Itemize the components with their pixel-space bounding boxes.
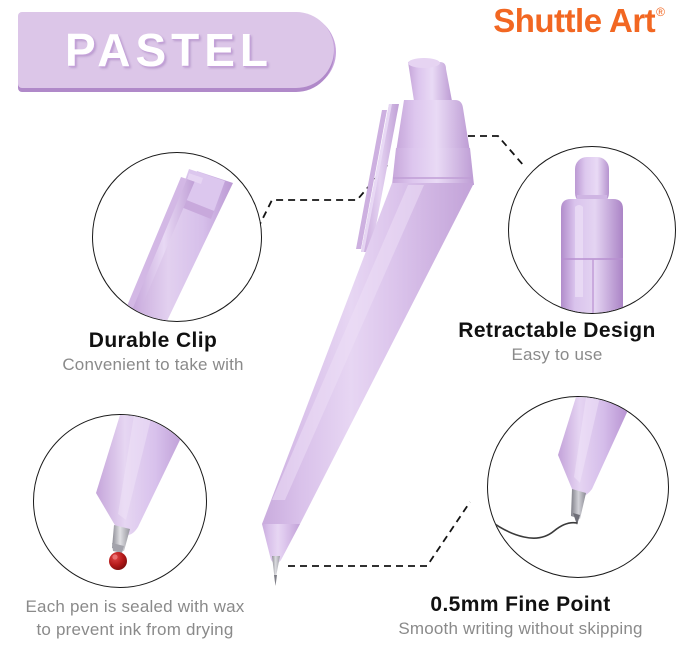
pen-clip-closeup-icon xyxy=(93,153,261,321)
label-wax-seal-line2: to prevent ink from drying xyxy=(0,619,270,642)
registered-trademark-icon: ® xyxy=(656,6,665,18)
leader-line-retractable xyxy=(420,136,524,166)
label-fine-point-subtitle: Smooth writing without skipping xyxy=(362,618,679,640)
label-fine-point: 0.5mm Fine Point Smooth writing without … xyxy=(362,592,679,640)
leader-line-finepoint xyxy=(288,502,470,566)
brand-name: Shuttle Art xyxy=(493,4,655,39)
label-wax-seal-line1: Each pen is sealed with wax xyxy=(0,596,270,619)
pen-tip-wax-closeup-icon xyxy=(34,415,206,587)
label-retractable-design-title: Retractable Design xyxy=(435,318,679,344)
pen-plunger-closeup-icon xyxy=(509,147,675,313)
label-fine-point-title: 0.5mm Fine Point xyxy=(362,592,679,618)
brand-logo: Shuttle Art ® xyxy=(493,4,665,39)
callout-wax-seal-closeup xyxy=(33,414,207,588)
label-retractable-design: Retractable Design Easy to use xyxy=(435,318,679,366)
callout-retractable-closeup xyxy=(508,146,676,314)
label-retractable-design-subtitle: Easy to use xyxy=(435,344,679,366)
callout-fine-point-closeup xyxy=(487,396,669,578)
label-durable-clip-subtitle: Convenient to take with xyxy=(28,354,278,376)
pastel-badge-label: PASTEL xyxy=(65,27,287,73)
label-wax-seal: Each pen is sealed with wax to prevent i… xyxy=(0,596,270,642)
label-durable-clip: Durable Clip Convenient to take with xyxy=(28,328,278,376)
pen-writing-closeup-icon xyxy=(488,397,668,577)
pastel-badge: PASTEL xyxy=(18,12,334,88)
callout-clip-closeup xyxy=(92,152,262,322)
label-durable-clip-title: Durable Clip xyxy=(28,328,278,354)
leader-line-clip xyxy=(247,163,389,250)
